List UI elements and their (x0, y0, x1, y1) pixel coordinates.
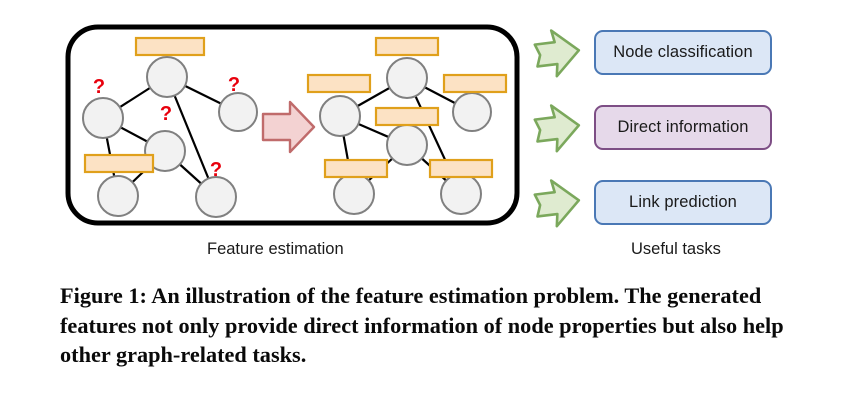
feature-bar (430, 160, 492, 177)
arrow-right-icon (533, 27, 581, 78)
feature-bar (85, 155, 153, 172)
green-arrows (533, 27, 581, 228)
label-useful-tasks: Useful tasks (631, 240, 721, 259)
feature-bar (444, 75, 506, 92)
feature-bar (136, 38, 204, 55)
figure-page: ? ? ? ? (0, 0, 845, 402)
label-feature-estimation: Feature estimation (207, 240, 344, 259)
graph-node (196, 177, 236, 217)
graph-node (441, 174, 481, 214)
graph-node (387, 58, 427, 98)
feature-bar (325, 160, 387, 177)
figure-illustration: ? ? ? ? (0, 0, 845, 270)
arrow-right-icon (263, 102, 314, 152)
graph-node (98, 176, 138, 216)
right-graph (308, 38, 506, 214)
graph-node (83, 98, 123, 138)
task-node-classification[interactable]: Node classification (594, 30, 772, 75)
graph-node (147, 57, 187, 97)
arrow-right-icon (533, 102, 581, 153)
feature-bar (308, 75, 370, 92)
graph-node (453, 93, 491, 131)
figure-caption: Figure 1: An illustration of the feature… (60, 281, 786, 370)
question-mark-icon: ? (160, 103, 172, 125)
task-link-prediction[interactable]: Link prediction (594, 180, 772, 225)
feature-bar (376, 38, 438, 55)
question-mark-icon: ? (210, 159, 222, 181)
graph-node (320, 96, 360, 136)
graph-node (334, 174, 374, 214)
question-mark-icon: ? (93, 76, 105, 98)
feature-bar (376, 108, 438, 125)
arrow-right-icon (533, 177, 581, 228)
graph-node (219, 93, 257, 131)
question-mark-icon: ? (228, 74, 240, 96)
graph-node (387, 125, 427, 165)
red-transform-arrow (263, 102, 314, 152)
left-graph: ? ? ? ? (83, 38, 257, 217)
task-direct-information[interactable]: Direct information (594, 105, 772, 150)
